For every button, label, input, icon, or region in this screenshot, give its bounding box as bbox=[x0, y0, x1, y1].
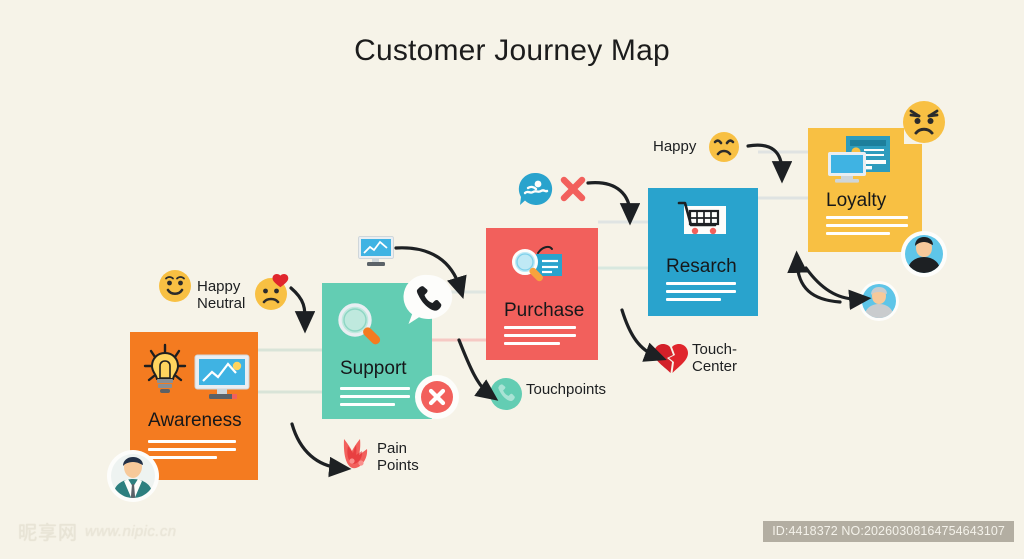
phone-bubble-icon[interactable] bbox=[400, 272, 456, 328]
avatar-person-icon[interactable] bbox=[900, 230, 948, 278]
sad-emoji[interactable] bbox=[708, 131, 740, 163]
watermark-site-url: www.nipic.cn bbox=[85, 523, 177, 540]
card-text-lines bbox=[340, 387, 410, 411]
card-text-lines bbox=[504, 326, 576, 350]
card-text-lines bbox=[666, 282, 736, 306]
annotation-pain-points: Pain Points bbox=[377, 440, 419, 474]
magnifier-icon bbox=[336, 301, 384, 349]
stage-card-research[interactable]: Resarch bbox=[648, 188, 758, 316]
red-x-badge-icon[interactable] bbox=[414, 374, 460, 420]
phone-circle-icon[interactable] bbox=[489, 377, 523, 411]
avatar-businessman-icon[interactable] bbox=[106, 449, 160, 503]
magnifier-document-icon bbox=[508, 242, 570, 290]
angry-emoji[interactable] bbox=[902, 100, 946, 144]
happy-emoji[interactable] bbox=[158, 269, 192, 303]
watermark: 昵享网 www.nipic.cn bbox=[18, 518, 177, 545]
watermark-id-badge: ID:4418372 NO:20260308164754643107 bbox=[763, 521, 1014, 542]
swimmer-icon[interactable] bbox=[518, 172, 554, 206]
shopping-cart-icon bbox=[676, 198, 730, 244]
watermark-site-cn: 昵享网 bbox=[18, 518, 78, 545]
red-x-icon[interactable] bbox=[558, 174, 588, 204]
pain-face-icon[interactable] bbox=[342, 437, 378, 475]
stage-label-research: Resarch bbox=[666, 256, 737, 278]
desktop-monitor-icon bbox=[194, 354, 250, 400]
annotation-touchpoints: Touchpoints bbox=[526, 381, 606, 398]
card-text-lines bbox=[826, 216, 908, 240]
desktop-browser-icon bbox=[828, 136, 890, 186]
annotation-touch-center: Touch- Center bbox=[692, 341, 737, 375]
lightbulb-icon bbox=[142, 342, 188, 396]
stage-card-purchase[interactable]: Purchase bbox=[486, 228, 598, 360]
annotation-mood-awareness: Happy Neutral bbox=[197, 278, 245, 312]
stage-label-purchase: Purchase bbox=[504, 300, 584, 322]
stage-label-awareness: Awareness bbox=[148, 410, 242, 432]
stage-label-loyalty: Loyalty bbox=[826, 190, 886, 212]
sad-heart-emoji[interactable] bbox=[253, 272, 293, 312]
monitor-chart-icon[interactable] bbox=[358, 236, 394, 268]
card-text-lines bbox=[148, 440, 236, 464]
stage-label-support: Support bbox=[340, 358, 407, 380]
broken-heart-icon[interactable] bbox=[653, 342, 689, 376]
avatar-senior-icon[interactable] bbox=[858, 280, 900, 322]
journey-map-canvas: Customer Journey Map bbox=[0, 0, 1024, 559]
annotation-mood-research: Happy bbox=[653, 138, 696, 155]
